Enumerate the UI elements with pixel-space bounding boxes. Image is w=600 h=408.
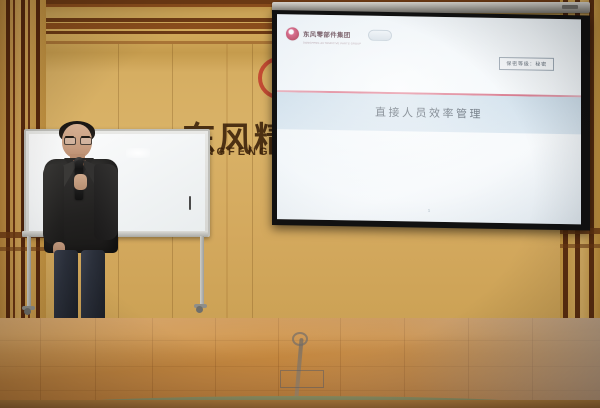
taped-floor-outline-icon xyxy=(280,370,324,388)
partner-badge-icon xyxy=(368,30,392,41)
slide-logo-company-cn: 东风零部件集团 xyxy=(303,31,351,40)
presenter-arm-left xyxy=(43,164,64,244)
glasses-icon xyxy=(64,137,90,143)
dongfeng-circle-logo-icon xyxy=(286,27,299,40)
slide-logo-company-en: DONGFENG AUTOMOTIVE PARTS GROUP xyxy=(303,42,361,46)
screen-housing-knob xyxy=(562,5,578,9)
presenter-leg-left xyxy=(54,250,78,328)
wall-cross-trim-right xyxy=(560,244,600,248)
stage-front-face xyxy=(0,400,600,408)
photo-scene: 东风精密 DONGFENG INVE 东风零部件集团 DONGFENG AUTO… xyxy=(0,0,600,408)
presenter-legs xyxy=(54,250,108,328)
projection-screen-frame: 东风零部件集团 DONGFENG AUTOMOTIVE PARTS GROUP … xyxy=(272,10,590,231)
whiteboard-leg xyxy=(200,236,204,306)
whiteboard-glare xyxy=(126,148,150,158)
presenter-leg-right xyxy=(81,250,105,328)
wall-seam xyxy=(226,44,228,330)
slide-logo: 东风零部件集团 DONGFENG AUTOMOTIVE PARTS GROUP xyxy=(286,23,392,46)
slide-page-number: 1 xyxy=(277,205,581,215)
whiteboard-caster-icon xyxy=(196,306,203,313)
presenter-hand-holding-mic xyxy=(74,174,87,190)
whiteboard-marker-icon xyxy=(189,196,191,210)
presenter xyxy=(44,124,118,346)
whiteboard-leg xyxy=(27,236,31,308)
wall-seam xyxy=(252,44,253,330)
pillar-cross-trim xyxy=(0,247,46,251)
slide-security-label: 保密等级：秘密 xyxy=(499,57,554,71)
presenter-arm-right xyxy=(94,164,118,240)
whiteboard-caster-icon xyxy=(24,308,31,315)
stage-floor xyxy=(0,318,600,408)
pillar-stripe xyxy=(13,0,15,330)
pillar-stripe xyxy=(6,0,10,330)
projection-screen: 东风零部件集团 DONGFENG AUTOMOTIVE PARTS GROUP … xyxy=(277,14,581,224)
